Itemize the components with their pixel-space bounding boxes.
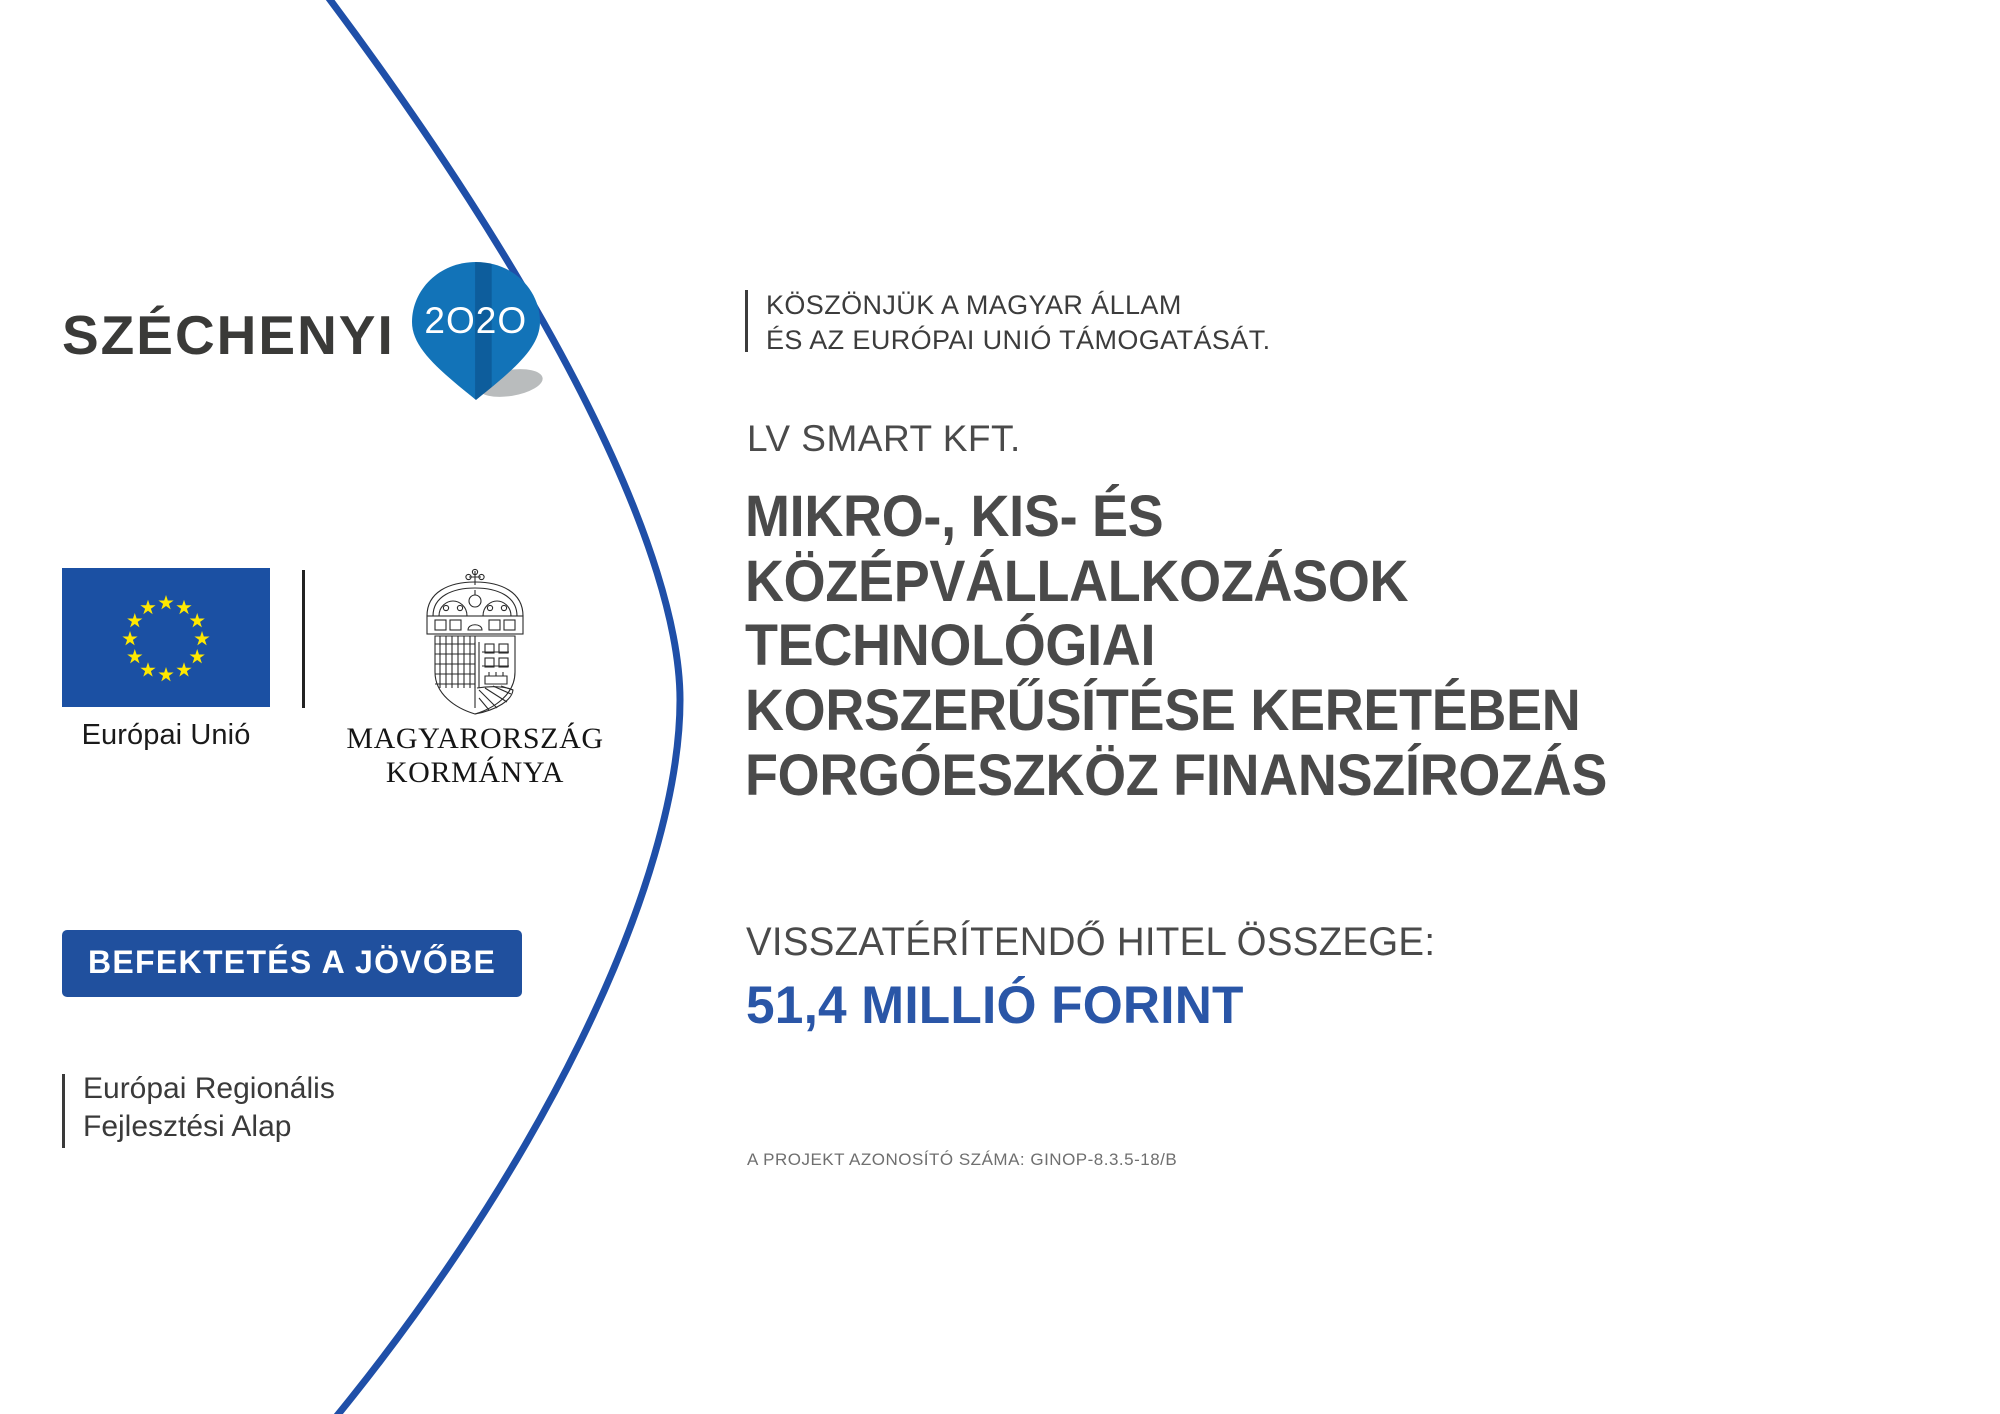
headline-line-4: KORSZERŰSÍTÉSE KERETÉBEN [745,679,1870,744]
hungary-caption-line1: MAGYARORSZÁG [341,722,609,756]
badge-label: BEFEKTETÉS A JÖVŐBE [88,944,496,981]
map-pin-icon: 2O2O [409,252,559,412]
headline-line-3: TECHNOLÓGIAI [745,614,1870,679]
headline-line-1: MIKRO-, KIS- ÉS [745,485,1870,550]
headline-line-5: FORGÓESZKÖZ FINANSZÍROZÁS [745,744,1870,809]
poster-canvas: SZÉCHENYI [0,0,2000,1414]
left-branding-column: SZÉCHENYI [0,0,660,1414]
erfa-text: Európai Regionális Fejlesztési Alap [83,1070,335,1147]
hungary-caption: MAGYARORSZÁG KORMÁNYA [341,722,609,789]
hungary-coat-of-arms-icon [413,568,537,716]
thanks-line2: ÉS AZ EURÓPAI UNIÓ TÁMOGATÁSÁT. [766,323,1271,358]
eu-stars [62,568,270,707]
befektetes-a-jovobe-badge: BEFEKTETÉS A JÖVŐBE [62,930,522,997]
szechenyi-wordmark: SZÉCHENYI [62,308,395,363]
eu-hungary-emblem-row: Európai Unió [62,568,609,789]
pin-year-label: 2O2O [409,300,543,342]
amount-value: 51,4 MILLIÓ FORINT [746,975,1244,1036]
eu-flag-icon [62,568,270,707]
szechenyi-2020-logo: SZÉCHENYI [62,258,559,412]
hungary-caption-line2: KORMÁNYA [341,756,609,790]
amount-label: VISSZATÉRÍTENDŐ HITEL ÖSSZEGE: [746,920,1435,965]
emblem-divider [302,570,305,708]
project-identifier: A PROJEKT AZONOSÍTÓ SZÁMA: GINOP-8.3.5-1… [747,1150,1177,1170]
eu-emblem-block: Európai Unió [62,568,270,752]
eu-caption: Európai Unió [62,719,270,752]
hungary-emblem-block: MAGYARORSZÁG KORMÁNYA [341,568,609,789]
project-headline: MIKRO-, KIS- ÉS KÖZÉPVÁLLALKOZÁSOK TECHN… [745,485,1955,808]
thanks-note: KÖSZÖNJÜK A MAGYAR ÁLLAM ÉS AZ EURÓPAI U… [745,288,1271,358]
thanks-accent-bar [745,290,748,352]
headline-line-2: KÖZÉPVÁLLALKOZÁSOK [745,550,1870,615]
erfa-accent-bar [62,1074,65,1148]
erfa-line1: Európai Regionális [83,1070,335,1108]
right-content-column: KÖSZÖNJÜK A MAGYAR ÁLLAM ÉS AZ EURÓPAI U… [745,0,1945,1414]
erfa-line2: Fejlesztési Alap [83,1108,335,1146]
thanks-line1: KÖSZÖNJÜK A MAGYAR ÁLLAM [766,288,1271,323]
thanks-text: KÖSZÖNJÜK A MAGYAR ÁLLAM ÉS AZ EURÓPAI U… [766,288,1271,358]
company-name: LV SMART KFT. [747,418,1021,460]
erfa-fund-note: Európai Regionális Fejlesztési Alap [62,1070,335,1148]
